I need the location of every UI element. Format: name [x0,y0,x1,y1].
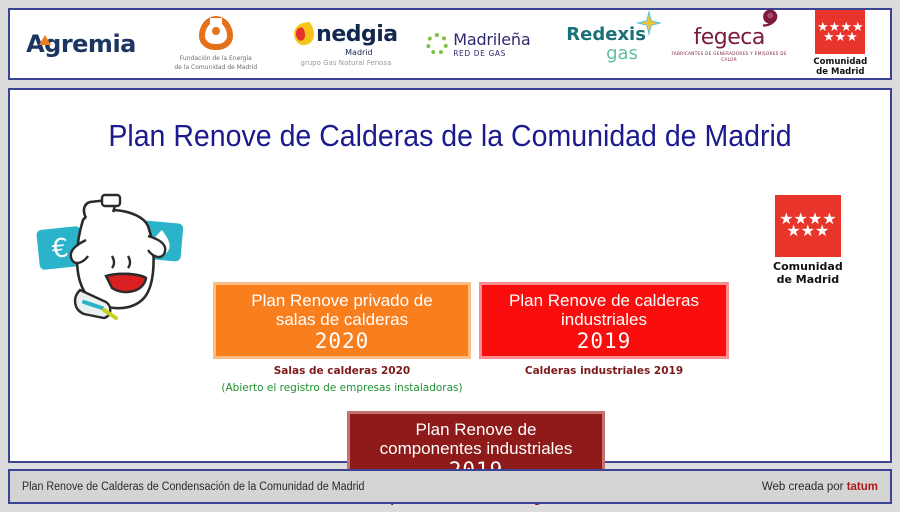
redexis-gas-text: gas [566,43,638,64]
madrid-caption-line1: Comunidad [773,261,843,274]
logo-nedgia[interactable]: nedgia Madrid grupo Gas Natural Fenosa [280,10,412,78]
fundacion-line1: Fundación de la Energía [174,55,257,63]
promo-salas-calderas-2020-button[interactable]: Plan Renove privado de salas de calderas… [213,282,471,359]
promo-caption: Salas de calderas 2020 [213,365,471,377]
madrid-caption-header: Comunidad de Madrid [813,58,867,78]
sunburst-icon [426,33,448,55]
nedgia-row: nedgia [294,22,397,47]
fegeca-row: fegeca [693,25,764,50]
logo-fegeca[interactable]: fegeca FABRICANTES DE GENERADORES Y EMIS… [668,10,791,78]
promo-salas-calderas-2020: Plan Renove privado de salas de calderas… [213,282,471,394]
madrilena-text: Madrileña [453,30,530,49]
partner-logo-bar: Agremia Fundación de la Energía de la Co… [8,8,892,80]
madrid-stars: ★ ★ ★ ★ ★ ★ ★ [779,214,836,239]
logo-madrilena-red-de-gas[interactable]: Madrileña RED DE GAS [412,10,544,78]
fegeca-subtitle: FABRICANTES DE GENERADORES Y EMISORES DE… [668,51,791,64]
redexis-text: Redexis [566,24,646,45]
promo-year: 2020 [226,330,458,352]
madrilena-texts: Madrileña RED DE GAS [453,30,530,58]
promo-note: (Abierto el registro de empresas instala… [213,382,471,394]
promo-year: 2019 [492,330,716,352]
four-point-star-icon [636,10,662,36]
nedgia-subtitle: Madrid [345,48,372,57]
page-title: Plan Renove de Calderas de la Comunidad … [45,118,855,154]
page-root: Agremia Fundación de la Energía de la Co… [0,0,900,512]
footer-credit: Web creada por tatum [762,481,878,493]
logo-comunidad-de-madrid-header[interactable]: ★ ★ ★ ★ ★ ★ ★ Comunidad de Madrid [791,10,890,78]
star-icon: ★ [846,32,858,42]
footer-credit-prefix: Web creada por [762,481,847,493]
star-icon: ★ [834,32,846,42]
footer-credit-brand[interactable]: tatum [847,481,878,493]
nedgia-text: nedgia [316,22,397,47]
flame-icon [292,21,316,47]
star-icon: ★ [786,226,800,238]
promo-calderas-industriales-2019-button[interactable]: Plan Renove de calderas industriales 201… [479,282,729,359]
madrilena-subtitle: RED DE GAS [453,49,530,58]
promo-title-line1: Plan Renove de [360,420,592,439]
madrid-stars-row-bottom: ★ ★ ★ [786,226,829,238]
star-icon: ★ [815,226,829,238]
fegeca-text: fegeca [693,25,764,50]
redexis-wrap: Redexis gas [566,24,646,64]
promo-title-line2: salas de calderas [226,310,458,329]
fundacion-caption: Fundación de la Energía de la Comunidad … [174,55,257,71]
agremia-wordmark: Agremia [26,30,136,58]
promo-title-line2: industriales [492,310,716,329]
madrid-stars: ★ ★ ★ ★ ★ ★ ★ [817,22,864,42]
star-icon: ★ [801,226,815,238]
star-icon: ★ [823,32,835,42]
promo-calderas-industriales-2019: Plan Renove de calderas industriales 201… [479,282,729,377]
logo-redexis-gas[interactable]: Redexis gas [545,10,668,78]
swirl-icon [757,9,781,35]
madrid-caption-line2: de Madrid [813,68,867,78]
promo-caption: Calderas industriales 2019 [479,365,729,377]
madrid-flag-icon: ★ ★ ★ ★ ★ ★ ★ [775,195,841,257]
madrid-caption-line2: de Madrid [773,274,843,287]
main-content-panel: Plan Renove de Calderas de la Comunidad … [8,88,892,463]
fundacion-line2: de la Comunidad de Madrid [174,64,257,72]
page-footer: Plan Renove de Calderas de Condensación … [8,469,892,504]
footer-site-name: Plan Renove de Calderas de Condensación … [22,481,364,493]
madrilena-row: Madrileña RED DE GAS [426,30,530,58]
logo-comunidad-de-madrid-side[interactable]: ★ ★ ★ ★ ★ ★ ★ Comunidad de Madrid [773,195,843,286]
boiler-mascot-illustration: € [28,190,193,325]
madrid-stars-row-bottom: ★ ★ ★ [823,32,858,42]
agremia-accent-icon [39,35,51,45]
svg-text:€: € [50,233,70,265]
nedgia-group: grupo Gas Natural Fenosa [300,59,391,67]
fundacion-mark-icon [199,16,233,50]
madrid-flag-icon: ★ ★ ★ ★ ★ ★ ★ [815,10,865,54]
madrid-caption-side: Comunidad de Madrid [773,261,843,286]
logo-agremia[interactable]: Agremia [10,10,152,78]
logo-fundacion-energia[interactable]: Fundación de la Energía de la Comunidad … [152,10,280,78]
promo-title-line1: Plan Renove de calderas [492,291,716,310]
promo-title-line1: Plan Renove privado de [226,291,458,310]
promo-title-line2: componentes industriales [360,439,592,458]
